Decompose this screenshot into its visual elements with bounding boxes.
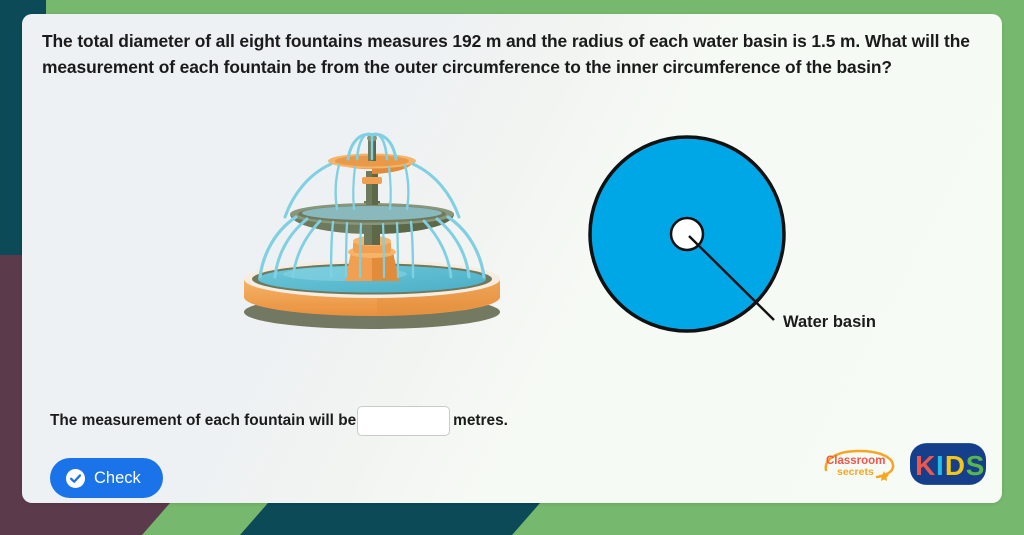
answer-input[interactable] bbox=[357, 406, 450, 436]
question-text: The total diameter of all eight fountain… bbox=[42, 28, 988, 80]
check-button-label: Check bbox=[94, 469, 141, 488]
kids-letter-s: S bbox=[966, 450, 985, 481]
answer-suffix-text: metres. bbox=[453, 412, 508, 430]
water-basin-label: Water basin bbox=[783, 313, 876, 331]
decorative-band-teal-bottom bbox=[240, 503, 540, 535]
kids-letter-i: I bbox=[936, 450, 944, 481]
check-button[interactable]: Check bbox=[50, 458, 163, 498]
circle-diagram-svg: Water basin bbox=[577, 124, 917, 349]
decorative-band-purple-bottom bbox=[0, 503, 170, 535]
kids-badge-logo: K I D S bbox=[910, 443, 986, 485]
fountain-illustration bbox=[227, 119, 517, 334]
question-card: The total diameter of all eight fountain… bbox=[22, 14, 1002, 503]
kids-letter-d: D bbox=[945, 450, 965, 481]
answer-sentence: The measurement of each fountain will be… bbox=[50, 406, 508, 436]
secrets-wordmark: secrets bbox=[837, 466, 874, 478]
check-circle-icon bbox=[66, 469, 85, 488]
fountain-svg bbox=[227, 119, 517, 334]
app-background: The total diameter of all eight fountain… bbox=[0, 0, 1024, 535]
classroom-wordmark: Classroom bbox=[826, 455, 885, 467]
answer-prefix-text: The measurement of each fountain will be bbox=[50, 412, 356, 430]
circle-diagram: Water basin bbox=[577, 124, 917, 349]
kids-letter-k: K bbox=[915, 450, 935, 481]
classroom-secrets-logo: Classroom secrets bbox=[822, 447, 898, 481]
branding-area: Classroom secrets K I D S bbox=[822, 443, 986, 485]
